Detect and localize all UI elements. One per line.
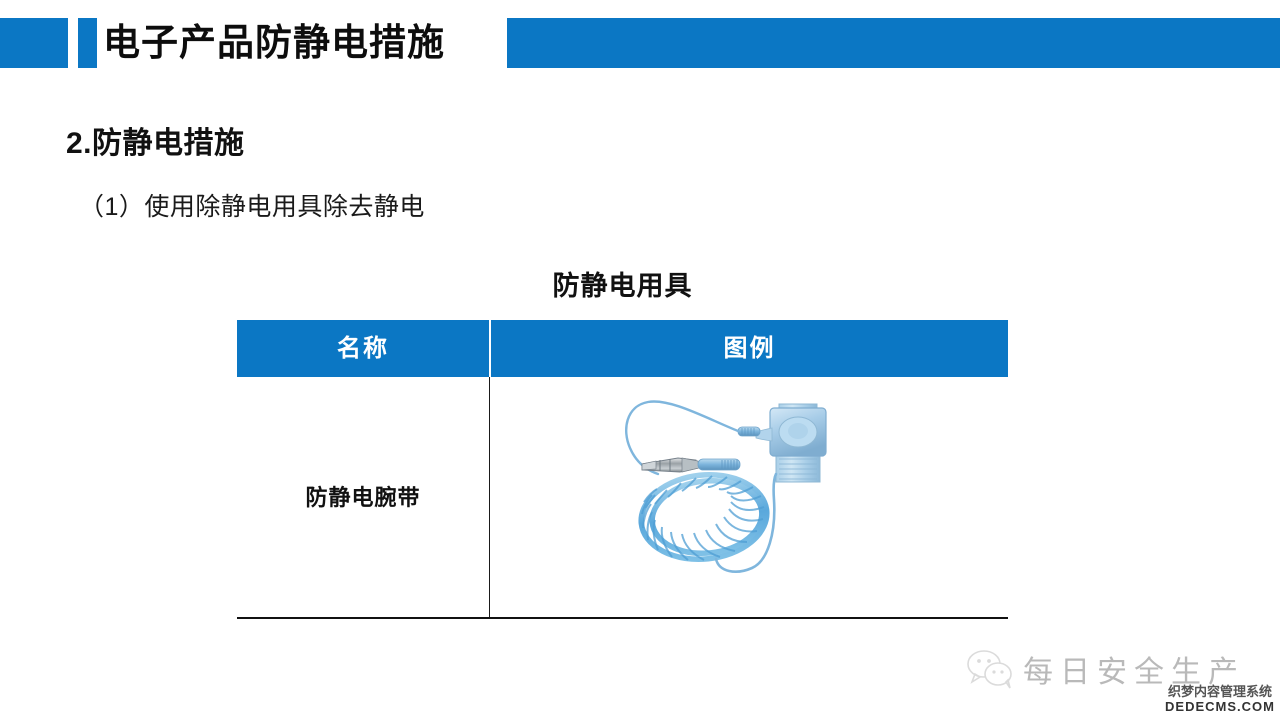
cell-tool-name: 防静电腕带 (237, 377, 489, 619)
cms-watermark-en: DEDECMS.COM (1160, 699, 1280, 714)
cms-watermark: 织梦内容管理系统 DEDECMS.COM (1160, 685, 1280, 714)
column-header-name: 名称 (237, 320, 489, 377)
table-caption: 防静电用具 (237, 264, 1008, 303)
header-accent-block-left (0, 18, 68, 68)
header-banner: 电子产品防静电措施 (0, 18, 1280, 68)
cms-watermark-cn: 织梦内容管理系统 (1160, 685, 1280, 699)
cell-tool-figure (490, 377, 1008, 619)
table-header-row: 名称 图例 (237, 320, 1008, 377)
connector-left (738, 427, 760, 436)
header-accent-bar-right (507, 18, 1280, 68)
table-row: 防静电腕带 (237, 377, 1008, 619)
column-header-figure: 图例 (491, 320, 1008, 377)
wechat-icon (965, 649, 1015, 689)
header-accent-tick (78, 18, 97, 68)
wrist-band-group (756, 404, 826, 482)
esd-tools-table: 名称 图例 防静电腕带 (237, 320, 1008, 619)
connector-right (698, 459, 740, 470)
alligator-clip (642, 458, 699, 472)
page-title: 电子产品防静电措施 (103, 16, 445, 70)
watermark: 每日安全生产 织梦内容管理系统 DEDECMS.COM (965, 645, 1280, 720)
table-bottom-rule (237, 617, 1008, 619)
section-heading: 2.防静电措施 (66, 118, 245, 162)
subsection-item: （1）使用除静电用具除去静电 (79, 187, 425, 223)
anti-static-wrist-strap-image (586, 382, 866, 582)
